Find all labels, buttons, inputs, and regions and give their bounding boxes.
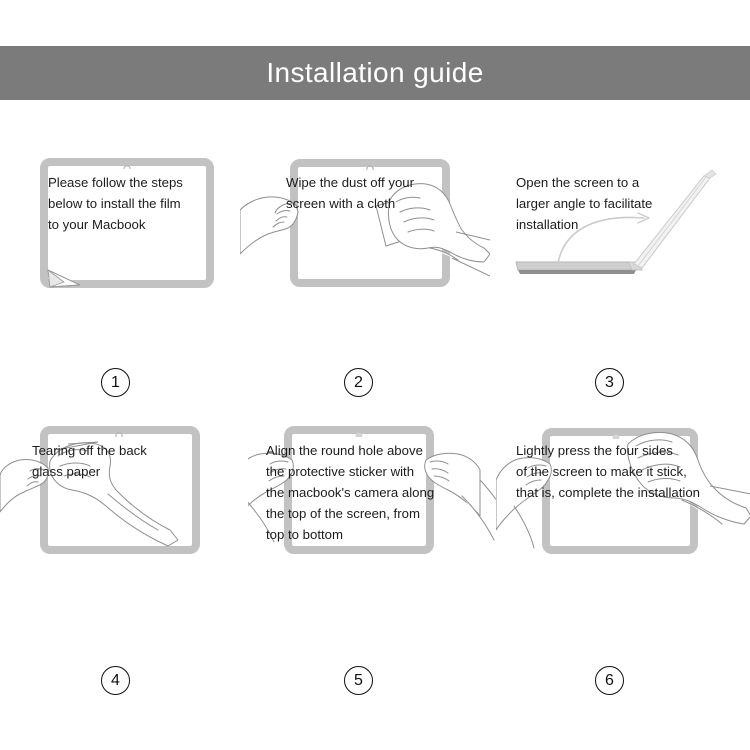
step-4-caption: Tearing off the back glass paper: [32, 440, 247, 482]
step-2-number: 2: [344, 368, 373, 397]
step-6-number: 6: [595, 666, 624, 695]
step-number-label: 6: [605, 673, 614, 689]
step-3-caption: Open the screen to a larger angle to fac…: [516, 172, 750, 235]
step-3-number: 3: [595, 368, 624, 397]
step-1-number: 1: [101, 368, 130, 397]
step-number-label: 1: [111, 375, 120, 391]
step-5-caption: Align the round hole above the protectiv…: [266, 440, 496, 545]
step-1-caption: Please follow the steps below to install…: [48, 172, 253, 235]
steps-container: Please follow the steps below to install…: [0, 0, 750, 750]
step-2-caption: Wipe the dust off your screen with a clo…: [286, 172, 491, 214]
step-number-label: 3: [605, 375, 614, 391]
step-6-caption: Lightly press the four sides of the scre…: [516, 440, 750, 503]
step-number-label: 2: [354, 375, 363, 391]
step-number-label: 5: [354, 673, 363, 689]
step-4-number: 4: [101, 666, 130, 695]
step-5-number: 5: [344, 666, 373, 695]
step-number-label: 4: [111, 673, 120, 689]
